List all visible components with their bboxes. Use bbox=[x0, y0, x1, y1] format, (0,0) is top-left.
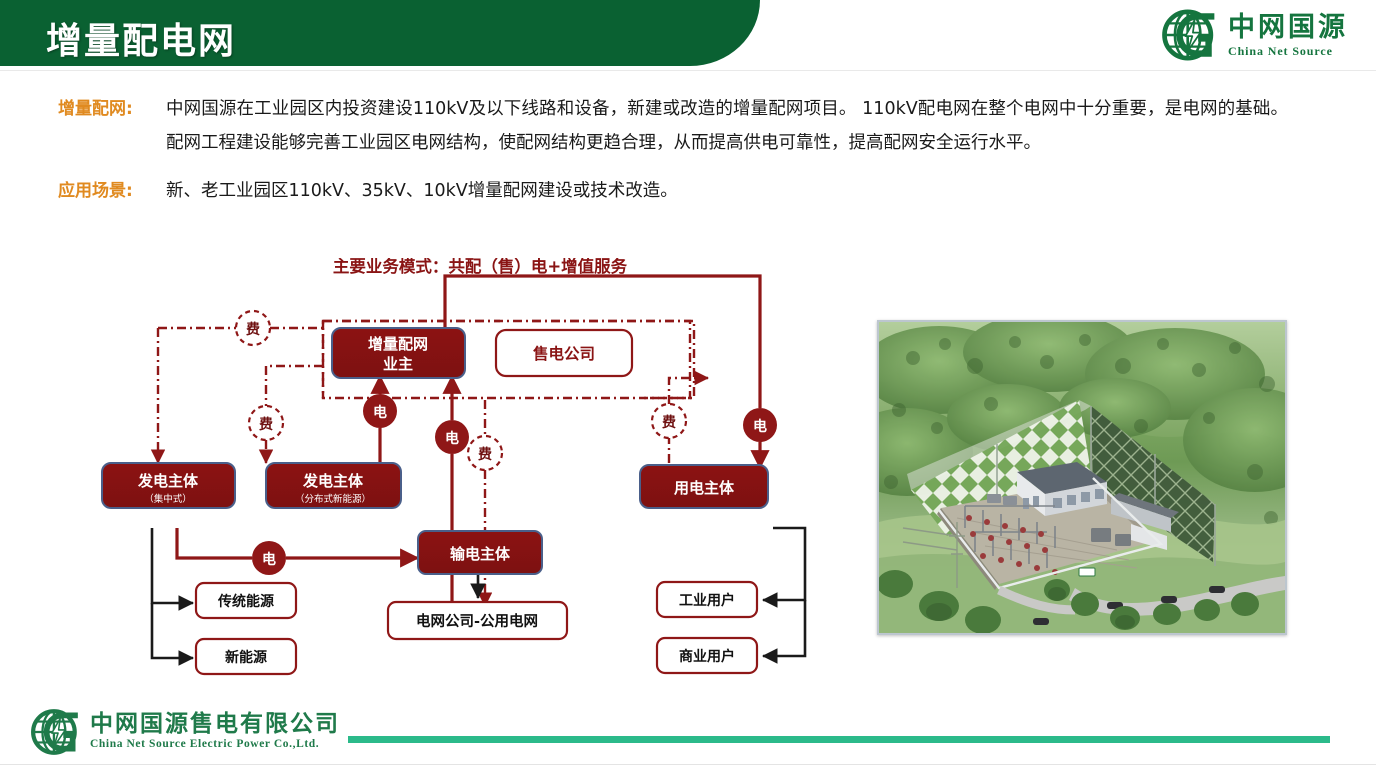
marker-power-2: 电 bbox=[435, 420, 469, 454]
node-gen-distributed-label2: （分布式新能源） bbox=[295, 493, 371, 505]
node-transmission: 输电主体 bbox=[418, 531, 542, 574]
marker-power-3: 电 bbox=[743, 408, 777, 442]
business-model-diagram: 增量配网 业主 售电公司 发电主体 （集中式） 发电主体 （分布式新能源） 用电… bbox=[80, 258, 880, 678]
node-consumer: 用电主体 bbox=[640, 465, 768, 508]
node-gen-central: 发电主体 （集中式） bbox=[102, 463, 235, 508]
brand-name-en: China Net Source bbox=[1228, 45, 1348, 57]
marker-fee-1-label: 费 bbox=[246, 321, 260, 338]
node-gen-central-label: 发电主体 bbox=[137, 472, 199, 490]
node-consumer-label: 用电主体 bbox=[674, 479, 735, 497]
substation-photo bbox=[877, 320, 1287, 635]
marker-power-2-label: 电 bbox=[445, 430, 459, 447]
node-new-energy: 新能源 bbox=[196, 639, 296, 674]
footer-company-cn: 中网国源售电有限公司 bbox=[90, 713, 340, 736]
marker-fee-2: 费 bbox=[249, 406, 283, 440]
footer-divider bbox=[0, 764, 1376, 765]
content-row-scenario: 应用场景: 新、老工业园区110kV、35kV、10kV增量配网建设或技术改造。 bbox=[58, 174, 1288, 208]
globe-lightning-logo-icon bbox=[30, 706, 82, 758]
node-gen-central-label2: （集中式） bbox=[144, 493, 192, 505]
marker-power-1: 电 bbox=[363, 394, 397, 428]
node-traditional-energy: 传统能源 bbox=[196, 583, 296, 618]
marker-fee-3-label: 费 bbox=[478, 446, 492, 463]
marker-fee-3: 费 bbox=[468, 436, 502, 470]
footer-company-en: China Net Source Electric Power Co.,Ltd. bbox=[90, 739, 340, 751]
node-gen-distributed: 发电主体 （分布式新能源） bbox=[266, 463, 401, 508]
content-label-definition: 增量配网: bbox=[58, 92, 166, 126]
node-retailer-label: 售电公司 bbox=[533, 344, 595, 363]
node-transmission-label: 输电主体 bbox=[450, 545, 511, 563]
node-traditional-energy-label: 传统能源 bbox=[217, 593, 274, 610]
content-block: 增量配网: 中网国源在工业园区内投资建设110kV及以下线路和设备，新建或改造的… bbox=[58, 92, 1288, 222]
marker-power-3-label: 电 bbox=[753, 418, 767, 435]
brand-logo-header: 中网国源 China Net Source bbox=[1161, 6, 1348, 64]
node-commercial-user-label: 商业用户 bbox=[679, 648, 735, 665]
marker-power-4: 电 bbox=[252, 541, 286, 575]
page-title: 增量配电网 bbox=[46, 12, 236, 64]
node-grid-company: 电网公司-公用电网 bbox=[388, 602, 567, 639]
content-text-definition: 中网国源在工业园区内投资建设110kV及以下线路和设备，新建或改造的增量配网项目… bbox=[166, 92, 1288, 160]
globe-lightning-logo-icon bbox=[1161, 6, 1219, 64]
marker-fee-2-label: 费 bbox=[259, 416, 273, 433]
footer-accent-bar bbox=[348, 736, 1330, 743]
node-grid-company-label: 电网公司-公用电网 bbox=[416, 612, 538, 630]
content-text-scenario: 新、老工业园区110kV、35kV、10kV增量配网建设或技术改造。 bbox=[166, 174, 1288, 208]
content-row-definition: 增量配网: 中网国源在工业园区内投资建设110kV及以下线路和设备，新建或改造的… bbox=[58, 92, 1288, 160]
node-industrial-user: 工业用户 bbox=[657, 582, 757, 617]
node-owner: 增量配网 业主 bbox=[332, 328, 465, 378]
diagram-title: 主要业务模式：共配（售）电+增值服务 bbox=[333, 258, 628, 276]
node-commercial-user: 商业用户 bbox=[657, 638, 757, 673]
marker-fee-4-label: 费 bbox=[662, 414, 676, 431]
marker-power-1-label: 电 bbox=[373, 404, 387, 421]
node-owner-label: 增量配网 bbox=[368, 335, 428, 353]
marker-fee-1: 费 bbox=[236, 311, 270, 345]
node-industrial-user-label: 工业用户 bbox=[679, 592, 735, 609]
brand-name-cn: 中网国源 bbox=[1228, 14, 1348, 41]
node-owner-label2: 业主 bbox=[383, 355, 413, 373]
marker-fee-4: 费 bbox=[652, 404, 686, 438]
node-gen-distributed-label: 发电主体 bbox=[302, 472, 364, 490]
brand-logo-footer: 中网国源售电有限公司 China Net Source Electric Pow… bbox=[30, 706, 340, 758]
marker-power-4-label: 电 bbox=[262, 551, 276, 568]
node-new-energy-label: 新能源 bbox=[225, 649, 267, 666]
header-divider bbox=[0, 70, 1376, 71]
node-retailer: 售电公司 bbox=[496, 330, 632, 376]
content-label-scenario: 应用场景: bbox=[58, 174, 166, 208]
